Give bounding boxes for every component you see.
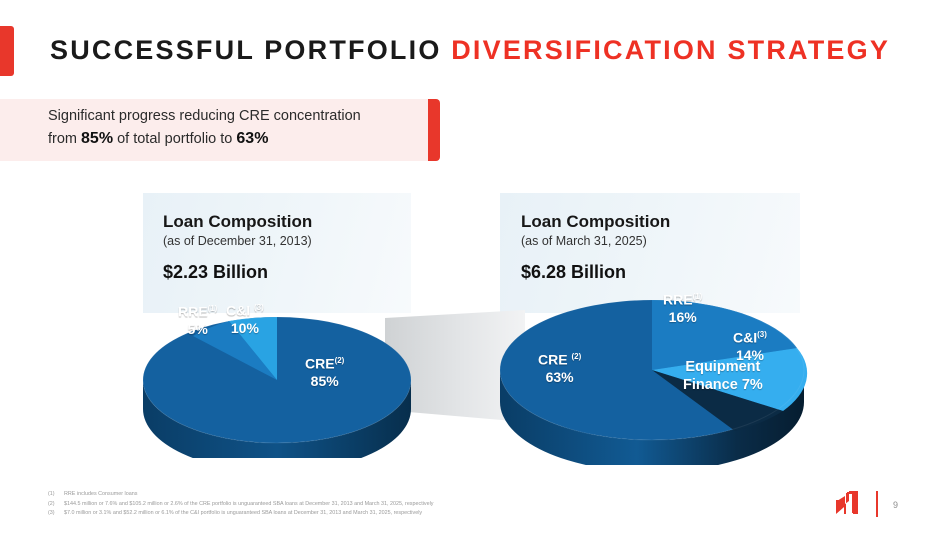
pie-label-right-equipment-finance: Equipment Finance 7% (683, 358, 763, 394)
left-panel-title: Loan Composition (163, 212, 312, 232)
right-panel-title: Loan Composition (521, 212, 670, 232)
callout-text: Significant progress reducing CRE concen… (48, 105, 420, 150)
left-panel-amount: $2.23 Billion (163, 262, 268, 283)
footnote-row: (1) RRE includes Consumer loans (48, 490, 688, 500)
footnote-marker: (3) (254, 303, 264, 312)
callout-stat-before: 85% (81, 130, 113, 147)
footnote-number: (1) (48, 490, 64, 500)
pie-label-right-eq-line2: Finance 7% (683, 376, 763, 394)
pie-label-left-rre-name: RRE(1) (178, 300, 217, 321)
page-title-highlight: DIVERSIFICATION STRATEGY (451, 35, 890, 65)
pie-label-left-ci: C&I (3) 10% (226, 299, 264, 337)
pie-label-left-ci-name: C&I (3) (226, 299, 264, 320)
footnote-number: (2) (48, 500, 64, 510)
page-title: SUCCESSFUL PORTFOLIO DIVERSIFICATION STR… (50, 28, 890, 72)
pie-label-left-cre-value: 85% (305, 373, 344, 390)
pie-label-right-rre-value: 16% (663, 309, 702, 326)
footnotes: (1) RRE includes Consumer loans (2) $144… (48, 490, 688, 519)
right-panel-subtitle: (as of March 31, 2025) (521, 234, 647, 248)
pie-label-right-rre: RRE(1) 16% (663, 288, 702, 326)
footnote-row: (2) $144.5 million or 7.6% and $105.2 mi… (48, 500, 688, 510)
pie-label-left-cre-name: CRE(2) (305, 352, 344, 373)
pie-label-right-ci-name: C&I(3) (733, 326, 767, 347)
page-number: 9 (893, 500, 898, 510)
footnote-row: (3) $7.0 million or 3.1% and $52.2 milli… (48, 509, 688, 519)
callout-accent-bar (428, 99, 440, 161)
footnote-text: RRE includes Consumer loans (64, 490, 137, 500)
left-panel-subtitle: (as of December 31, 2013) (163, 234, 312, 248)
pie-label-left-rre-value: 5% (178, 321, 217, 338)
footer-divider (876, 491, 878, 517)
footnote-text: $144.5 million or 7.6% and $105.2 millio… (64, 500, 433, 510)
pie-label-left-cre: CRE(2) 85% (305, 352, 344, 390)
pie-label-left-rre: RRE(1) 5% (178, 300, 217, 338)
callout-line-2-middle: of total portfolio to (113, 131, 236, 147)
pie-label-right-cre: CRE (2) 63% (538, 348, 581, 386)
pie-label-right-cre-value: 63% (538, 369, 581, 386)
footnote-marker: (3) (757, 330, 767, 339)
callout-line-2-prefix: from (48, 131, 81, 147)
pie-label-right-eq-line1: Equipment (683, 358, 763, 376)
pie-label-right-rre-name: RRE(1) (663, 288, 702, 309)
title-accent-bar (0, 26, 14, 76)
footnote-marker: (1) (208, 304, 218, 313)
pie-chart-2013[interactable] (130, 283, 420, 458)
footnote-marker: (2) (335, 356, 345, 365)
pie-chart-2025[interactable] (487, 270, 817, 465)
callout-stat-after: 63% (236, 130, 268, 147)
page-title-primary: SUCCESSFUL PORTFOLIO (50, 35, 451, 65)
pie-label-left-ci-value: 10% (226, 320, 264, 337)
footnote-marker: (1) (693, 292, 703, 301)
company-logo-icon (833, 489, 861, 519)
pie-label-right-cre-name: CRE (2) (538, 348, 581, 369)
footnote-marker: (2) (571, 352, 581, 361)
callout-line-1: Significant progress reducing CRE concen… (48, 108, 361, 124)
footnote-text: $7.0 million or 3.1% and $52.2 million o… (64, 509, 422, 519)
footnote-number: (3) (48, 509, 64, 519)
